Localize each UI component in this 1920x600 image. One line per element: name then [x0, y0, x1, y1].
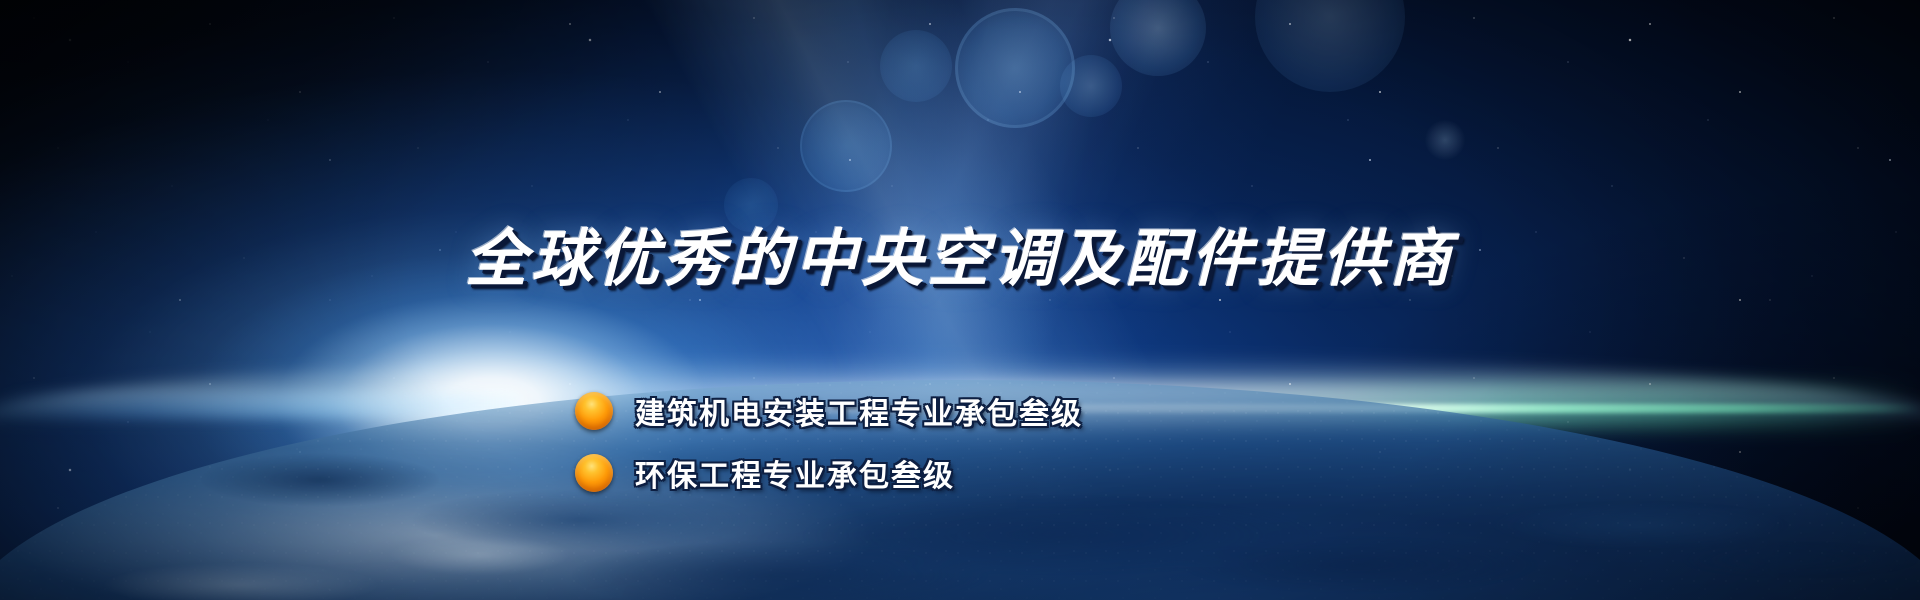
list-item: 环保工程专业承包叁级 — [575, 445, 1083, 501]
bullet-label: 建筑机电安装工程专业承包叁级 — [635, 389, 1083, 433]
hero-banner: 全球优秀的中央空调及配件提供商 建筑机电安装工程专业承包叁级 环保工程专业承包叁… — [0, 0, 1920, 600]
bullet-label: 环保工程专业承包叁级 — [635, 451, 955, 495]
orange-sphere-bullet-icon — [575, 392, 613, 430]
orange-sphere-bullet-icon — [575, 454, 613, 492]
feature-bullet-list: 建筑机电安装工程专业承包叁级 环保工程专业承包叁级 — [575, 383, 1083, 507]
banner-headline: 全球优秀的中央空调及配件提供商 — [0, 208, 1920, 298]
banner-content: 全球优秀的中央空调及配件提供商 建筑机电安装工程专业承包叁级 环保工程专业承包叁… — [0, 0, 1920, 600]
list-item: 建筑机电安装工程专业承包叁级 — [575, 383, 1083, 439]
